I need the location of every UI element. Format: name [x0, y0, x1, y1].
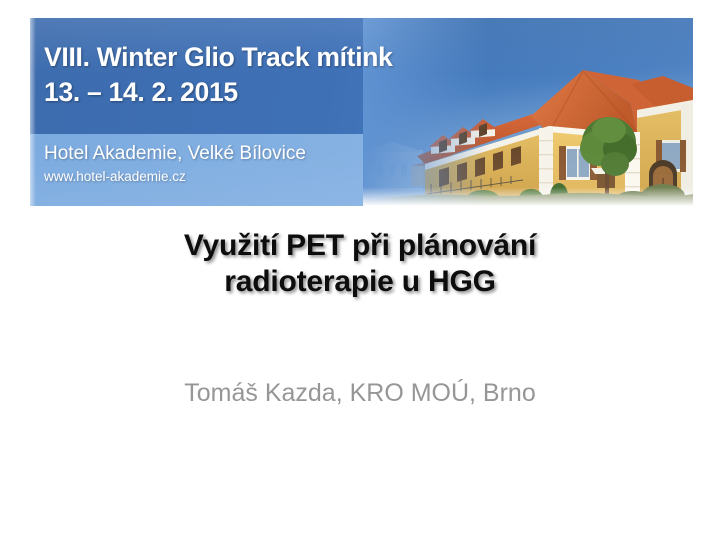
- hotel-building-photo: [363, 18, 693, 206]
- slide-title-line-2: radioterapie u HGG: [60, 264, 660, 300]
- banner-event-dates: 13. – 14. 2. 2015: [44, 75, 393, 110]
- conference-banner: VIII. Winter Glio Track mítink 13. – 14.…: [30, 18, 693, 206]
- slide-subtitle-author: Tomáš Kazda, KRO MOÚ, Brno: [60, 378, 660, 408]
- slide-title-line-1: Využití PET při plánování: [60, 228, 660, 264]
- presentation-slide: VIII. Winter Glio Track mítink 13. – 14.…: [0, 0, 720, 540]
- banner-website-url: www.hotel-akademie.cz: [44, 168, 186, 185]
- slide-title: Využití PET při plánování radioterapie u…: [60, 228, 660, 300]
- banner-venue-text: Hotel Akademie, Velké Bílovice: [44, 142, 306, 165]
- banner-event-title-line1: VIII. Winter Glio Track mítink: [44, 42, 393, 72]
- banner-event-title: VIII. Winter Glio Track mítink 13. – 14.…: [44, 40, 393, 110]
